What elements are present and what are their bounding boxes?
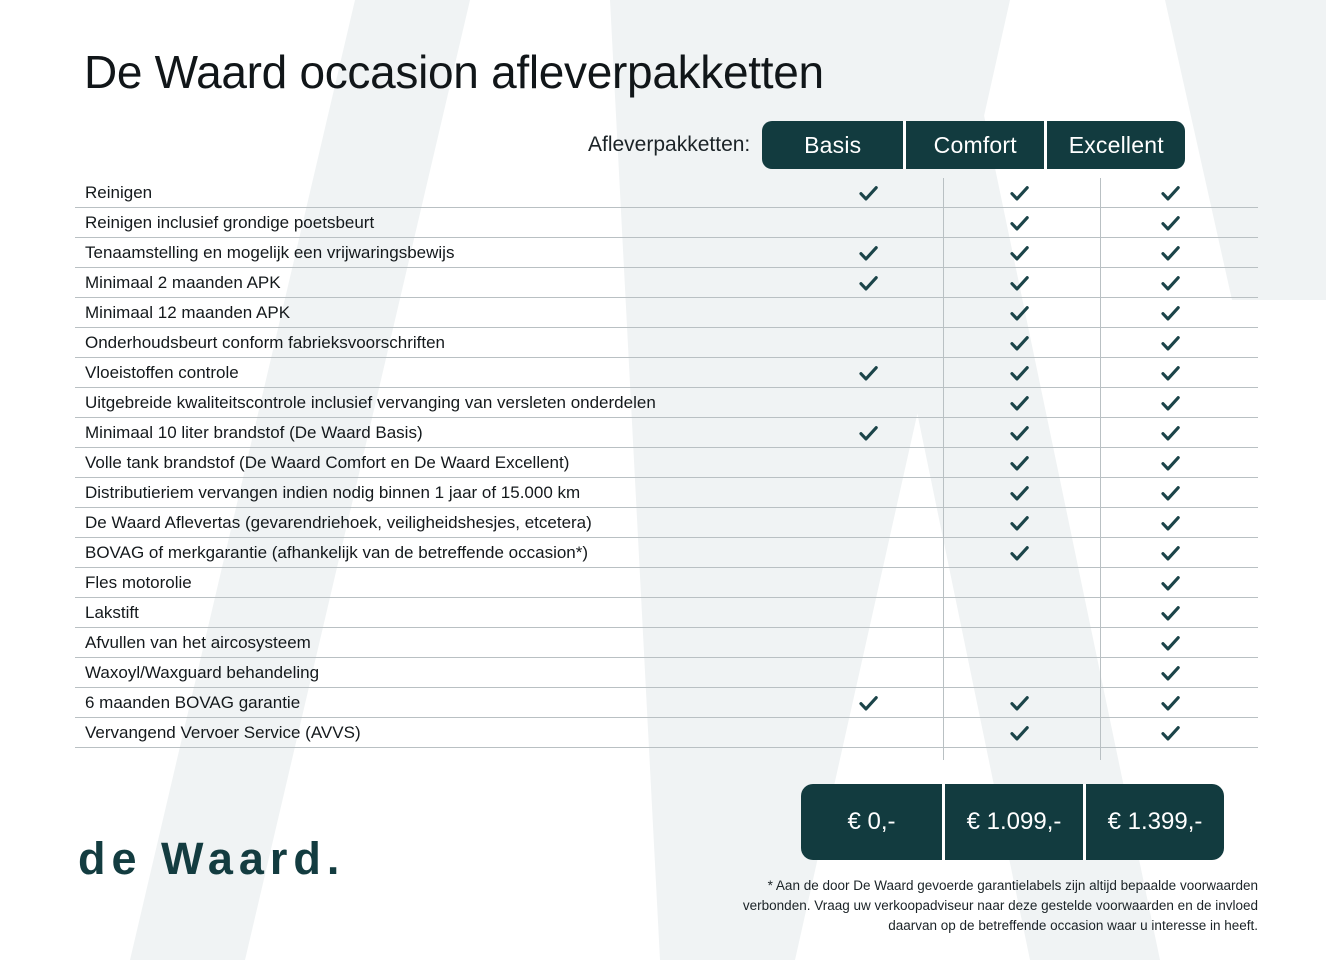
check-icon [1009, 333, 1030, 354]
feature-label: Reinigen [85, 178, 152, 208]
cell-basis [798, 418, 939, 448]
cell-basis [798, 658, 939, 688]
cell-excellent [1100, 718, 1241, 748]
table-row: Fles motorolie [75, 568, 1258, 598]
table-row: Uitgebreide kwaliteitscontrole inclusief… [75, 388, 1258, 418]
cell-basis [798, 448, 939, 478]
cell-basis [798, 568, 939, 598]
check-icon [1160, 633, 1181, 654]
cell-excellent [1100, 478, 1241, 508]
cell-comfort [949, 418, 1090, 448]
table-row: Tenaamstelling en mogelijk een vrijwarin… [75, 238, 1258, 268]
cell-excellent [1100, 358, 1241, 388]
check-icon [1009, 303, 1030, 324]
table-row: Reinigen inclusief grondige poetsbeurt [75, 208, 1258, 238]
check-icon [1160, 573, 1181, 594]
cell-excellent [1100, 418, 1241, 448]
check-icon [1160, 543, 1181, 564]
cell-excellent [1100, 448, 1241, 478]
price-band: € 0,- € 1.099,- € 1.399,- [801, 784, 1224, 860]
feature-label: Vloeistoffen controle [85, 358, 239, 388]
cell-basis [798, 328, 939, 358]
feature-label: 6 maanden BOVAG garantie [85, 688, 300, 718]
package-tab-basis[interactable]: Basis [762, 121, 903, 169]
cell-comfort [949, 538, 1090, 568]
check-icon [1160, 483, 1181, 504]
cell-excellent [1100, 328, 1241, 358]
cell-basis [798, 178, 939, 208]
check-icon [1009, 423, 1030, 444]
feature-label: Fles motorolie [85, 568, 192, 598]
de-waard-logo: de Waard. [78, 833, 345, 885]
cell-comfort [949, 598, 1090, 628]
check-icon [1009, 723, 1030, 744]
check-icon [1160, 393, 1181, 414]
check-icon [1160, 243, 1181, 264]
cell-excellent [1100, 298, 1241, 328]
check-icon [1160, 453, 1181, 474]
cell-excellent [1100, 658, 1241, 688]
poster-root: De Waard occasion afleverpakketten Aflev… [0, 0, 1326, 960]
table-row: BOVAG of merkgarantie (afhankelijk van d… [75, 538, 1258, 568]
table-row: Minimaal 12 maanden APK [75, 298, 1258, 328]
cell-comfort [949, 688, 1090, 718]
check-icon [1160, 303, 1181, 324]
cell-basis [798, 478, 939, 508]
check-icon [1009, 693, 1030, 714]
check-icon [1009, 363, 1030, 384]
table-row: Vervangend Vervoer Service (AVVS) [75, 718, 1258, 748]
check-icon [1160, 513, 1181, 534]
table-row: Reinigen [75, 178, 1258, 208]
check-icon [1160, 423, 1181, 444]
feature-label: Volle tank brandstof (De Waard Comfort e… [85, 448, 569, 478]
cell-comfort [949, 268, 1090, 298]
check-icon [1160, 603, 1181, 624]
feature-label: Vervangend Vervoer Service (AVVS) [85, 718, 361, 748]
cell-comfort [949, 178, 1090, 208]
check-icon [858, 183, 879, 204]
table-row: Vloeistoffen controle [75, 358, 1258, 388]
cell-basis [798, 268, 939, 298]
check-icon [1160, 363, 1181, 384]
cell-comfort [949, 208, 1090, 238]
cell-basis [798, 718, 939, 748]
check-icon [1009, 183, 1030, 204]
cell-comfort [949, 478, 1090, 508]
table-row: Afvullen van het aircosysteem [75, 628, 1258, 658]
cell-excellent [1100, 628, 1241, 658]
cell-basis [798, 628, 939, 658]
check-icon [1160, 333, 1181, 354]
check-icon [1009, 543, 1030, 564]
cell-excellent [1100, 238, 1241, 268]
cell-comfort [949, 628, 1090, 658]
check-icon [1009, 513, 1030, 534]
feature-label: Distributieriem vervangen indien nodig b… [85, 478, 580, 508]
feature-label: Tenaamstelling en mogelijk een vrijwarin… [85, 238, 454, 268]
cell-excellent [1100, 388, 1241, 418]
check-icon [1160, 663, 1181, 684]
cell-excellent [1100, 538, 1241, 568]
cell-excellent [1100, 688, 1241, 718]
feature-label: Waxoyl/Waxguard behandeling [85, 658, 319, 688]
table-row: Minimaal 2 maanden APK [75, 268, 1258, 298]
feature-label: Minimaal 12 maanden APK [85, 298, 290, 328]
check-icon [1009, 243, 1030, 264]
cell-basis [798, 538, 939, 568]
feature-label: Onderhoudsbeurt conform fabrieksvoorschr… [85, 328, 445, 358]
price-comfort: € 1.099,- [942, 784, 1083, 860]
feature-label: De Waard Aflevertas (gevarendriehoek, ve… [85, 508, 592, 538]
cell-comfort [949, 448, 1090, 478]
cell-comfort [949, 358, 1090, 388]
table-row: Distributieriem vervangen indien nodig b… [75, 478, 1258, 508]
cell-comfort [949, 658, 1090, 688]
cell-comfort [949, 508, 1090, 538]
cell-basis [798, 598, 939, 628]
check-icon [1009, 483, 1030, 504]
check-icon [1009, 213, 1030, 234]
table-row: Lakstift [75, 598, 1258, 628]
cell-comfort [949, 328, 1090, 358]
cell-basis [798, 508, 939, 538]
check-icon [858, 243, 879, 264]
check-icon [1160, 213, 1181, 234]
feature-label: Uitgebreide kwaliteitscontrole inclusief… [85, 388, 656, 418]
check-icon [858, 363, 879, 384]
table-row: Onderhoudsbeurt conform fabrieksvoorschr… [75, 328, 1258, 358]
cell-comfort [949, 298, 1090, 328]
check-icon [1160, 693, 1181, 714]
cell-comfort [949, 718, 1090, 748]
package-tab-excellent[interactable]: Excellent [1044, 121, 1185, 169]
footnote-text: * Aan de door De Waard gevoerde garantie… [698, 876, 1258, 936]
feature-label: Minimaal 2 maanden APK [85, 268, 281, 298]
feature-label: Reinigen inclusief grondige poetsbeurt [85, 208, 374, 238]
page-title: De Waard occasion afleverpakketten [84, 45, 824, 99]
cell-excellent [1100, 208, 1241, 238]
cell-excellent [1100, 178, 1241, 208]
package-tab-band: Basis Comfort Excellent [762, 121, 1185, 169]
price-basis: € 0,- [801, 784, 942, 860]
afleverpakketten-label: Afleverpakketten: [588, 121, 762, 169]
cell-basis [798, 238, 939, 268]
price-excellent: € 1.399,- [1083, 784, 1224, 860]
check-icon [1009, 393, 1030, 414]
package-header: Afleverpakketten: Basis Comfort Excellen… [588, 121, 1185, 169]
package-tab-comfort[interactable]: Comfort [903, 121, 1044, 169]
check-icon [1160, 183, 1181, 204]
feature-comparison-table: ReinigenReinigen inclusief grondige poet… [75, 178, 1258, 748]
check-icon [1160, 273, 1181, 294]
cell-excellent [1100, 598, 1241, 628]
cell-comfort [949, 388, 1090, 418]
check-icon [1009, 273, 1030, 294]
cell-basis [798, 208, 939, 238]
table-row: Waxoyl/Waxguard behandeling [75, 658, 1258, 688]
check-icon [1160, 723, 1181, 744]
cell-basis [798, 688, 939, 718]
cell-excellent [1100, 508, 1241, 538]
table-row: De Waard Aflevertas (gevarendriehoek, ve… [75, 508, 1258, 538]
cell-basis [798, 298, 939, 328]
table-row: Minimaal 10 liter brandstof (De Waard Ba… [75, 418, 1258, 448]
check-icon [858, 423, 879, 444]
cell-comfort [949, 568, 1090, 598]
cell-excellent [1100, 268, 1241, 298]
cell-basis [798, 358, 939, 388]
table-row: 6 maanden BOVAG garantie [75, 688, 1258, 718]
feature-label: Lakstift [85, 598, 139, 628]
check-icon [1009, 453, 1030, 474]
feature-label: Afvullen van het aircosysteem [85, 628, 311, 658]
table-row: Volle tank brandstof (De Waard Comfort e… [75, 448, 1258, 478]
feature-label: BOVAG of merkgarantie (afhankelijk van d… [85, 538, 588, 568]
feature-label: Minimaal 10 liter brandstof (De Waard Ba… [85, 418, 423, 448]
cell-basis [798, 388, 939, 418]
cell-comfort [949, 238, 1090, 268]
check-icon [858, 693, 879, 714]
check-icon [858, 273, 879, 294]
cell-excellent [1100, 568, 1241, 598]
